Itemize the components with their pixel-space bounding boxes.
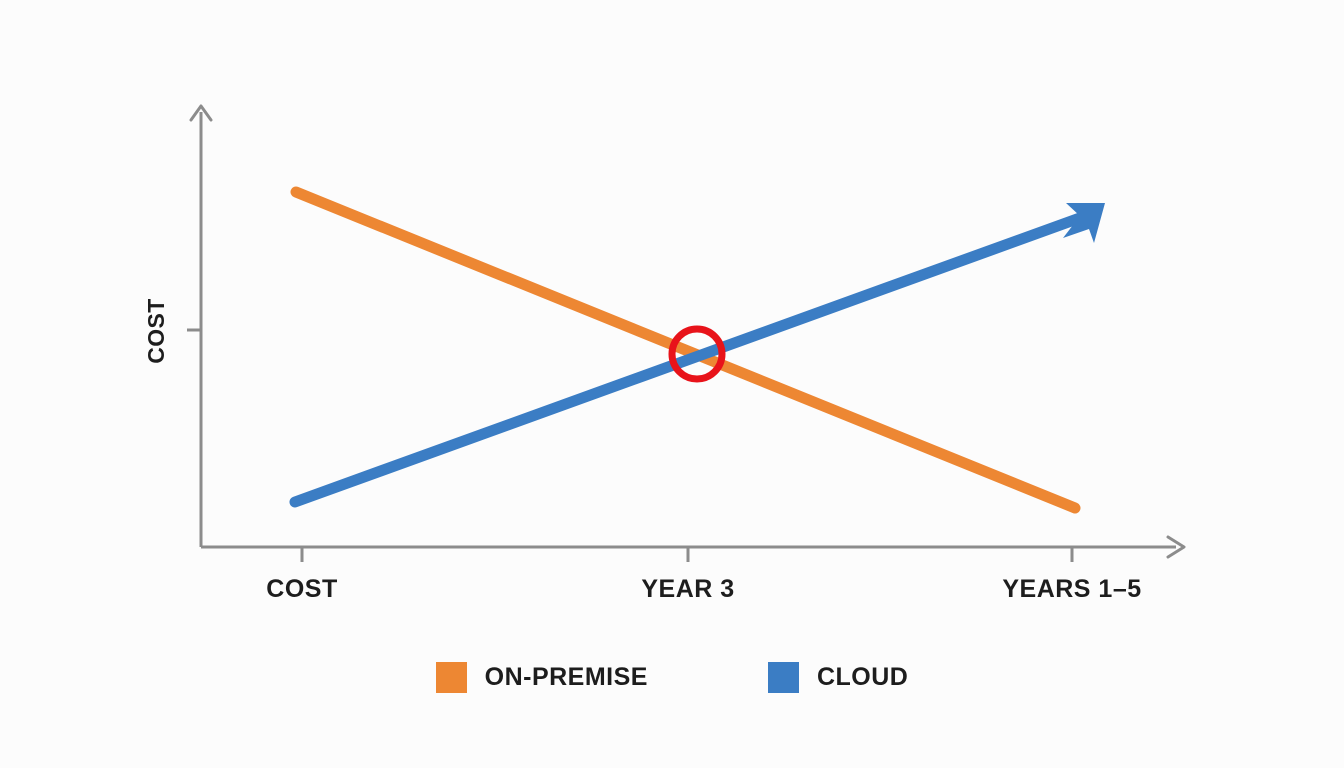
cost-comparison-line-chart: COST COST YEAR 3 YEARS 1–5 (0, 0, 1344, 768)
legend-label-on-premise: ON-PREMISE (485, 665, 648, 690)
legend-item-cloud[interactable]: CLOUD (768, 662, 908, 693)
x-tick-label-cost: COST (266, 575, 337, 603)
cloud-line (295, 215, 1088, 502)
square-swatch-icon (768, 662, 799, 693)
x-tick-label-years-1-5: YEARS 1–5 (1002, 575, 1141, 603)
series-cloud (295, 203, 1105, 502)
chart-canvas: COST COST YEAR 3 YEARS 1–5 ON-PREMISE CL… (0, 0, 1344, 768)
legend-item-on-premise[interactable]: ON-PREMISE (436, 662, 648, 693)
square-swatch-icon (436, 662, 467, 693)
chart-legend: ON-PREMISE CLOUD (0, 662, 1344, 693)
y-axis-title: COST (143, 298, 169, 364)
legend-label-cloud: CLOUD (817, 665, 908, 690)
x-tick-label-year-3: YEAR 3 (641, 575, 734, 603)
